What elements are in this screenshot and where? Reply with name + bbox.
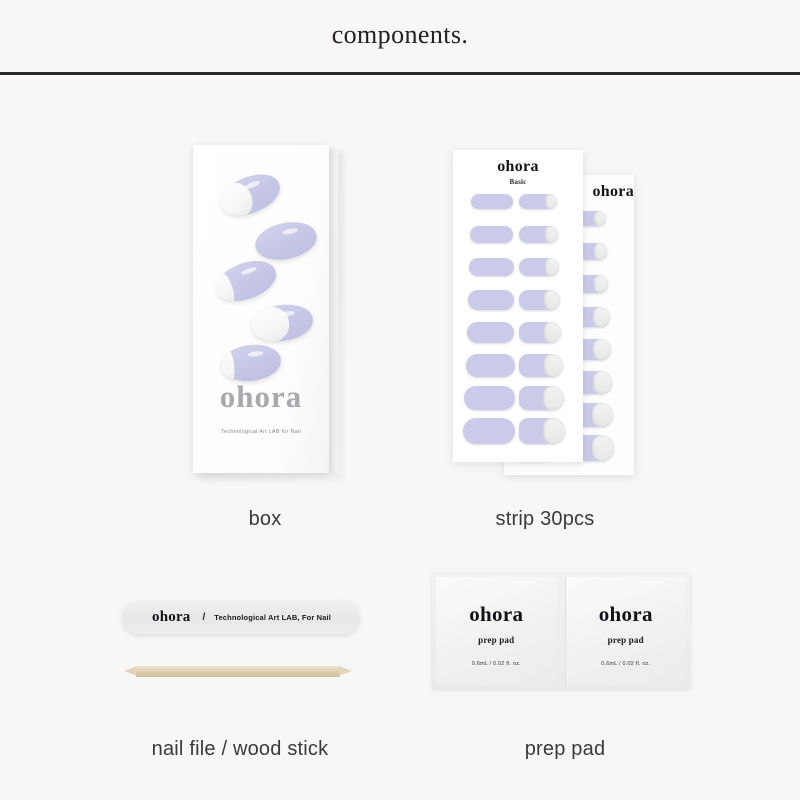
- prep-pad-sachet: ohora prep pad 0.6mL / 0.02 fl. oz.: [436, 577, 557, 685]
- nail-white-tip: [593, 307, 609, 327]
- wood-stick: [124, 666, 352, 677]
- nail-white-tip: [544, 290, 560, 310]
- nail-sticker: [519, 194, 557, 209]
- strip-sheet-logo: ohora: [453, 158, 583, 176]
- nail-sticker: [469, 258, 514, 276]
- nail-white-tip: [249, 304, 292, 345]
- nail-white-tip: [543, 386, 563, 410]
- caption-prep-pad: prep pad: [430, 738, 700, 761]
- wood-stick-right-tip: [339, 666, 352, 676]
- nail-sticker: [466, 354, 515, 377]
- product-box: ohora Technological Art LAB for Nail: [193, 145, 338, 475]
- box-nail-swatch: [252, 217, 320, 265]
- nail-white-tip: [545, 194, 557, 209]
- nail-file-separator: /: [203, 612, 206, 623]
- box-nail-swatch: [211, 253, 282, 308]
- nail-white-tip: [545, 258, 560, 276]
- nail-file-logo: ohora: [152, 609, 191, 626]
- nail-sticker: [470, 226, 513, 243]
- caption-strip: strip 30pcs: [430, 508, 660, 531]
- nail-white-tip: [594, 275, 609, 293]
- wood-stick-body: [136, 666, 340, 677]
- prep-pad-name: prep pad: [478, 635, 514, 645]
- prep-pad-pack: ohora prep pad 0.6mL / 0.02 fl. oz. ohor…: [432, 573, 690, 689]
- nail-sticker: [464, 386, 514, 410]
- nail-white-tip: [592, 435, 615, 461]
- components-page: components. ohora Technological Art LAB …: [0, 0, 800, 800]
- nail-sticker: [471, 194, 513, 209]
- nail-sticker: [519, 290, 560, 310]
- nail-white-tip: [544, 322, 561, 343]
- box-nail-swatch: [215, 167, 286, 224]
- nail-file: ohora / Technological Art LAB, For Nail: [122, 600, 360, 634]
- prep-pad-name: prep pad: [608, 635, 644, 645]
- caption-nail-file: nail file / wood stick: [80, 738, 400, 761]
- prep-pad-volume: 0.6mL / 0.02 fl. oz.: [601, 661, 650, 667]
- strip-sheet-front: ohora Basic: [453, 150, 583, 462]
- prep-pad-sachet: ohora prep pad 0.6mL / 0.02 fl. oz.: [565, 577, 687, 685]
- prep-pad-logo: ohora: [599, 602, 653, 627]
- nail-sticker: [463, 418, 515, 444]
- nail-sticker: [519, 322, 561, 343]
- box-nail-swatch: [249, 301, 315, 345]
- box-brand-logo: ohora: [193, 379, 329, 415]
- nail-white-tip: [211, 269, 238, 308]
- box-front-face: ohora Technological Art LAB for Nail: [193, 145, 329, 473]
- nail-white-tip: [545, 226, 558, 243]
- nail-sticker: [467, 322, 515, 343]
- nail-sticker: [519, 354, 563, 377]
- box-side-panel: [329, 149, 338, 473]
- nail-sticker: [519, 418, 565, 444]
- nail-sticker: [519, 258, 559, 276]
- strip-sheet-subtitle: Basic: [453, 178, 583, 186]
- nail-highlight: [240, 266, 257, 276]
- nail-white-tip: [543, 418, 565, 444]
- prep-pad-logo: ohora: [469, 602, 523, 627]
- nail-file-tagline: Technological Art LAB, For Nail: [214, 613, 331, 622]
- nail-sticker: [519, 226, 558, 243]
- nail-white-tip: [592, 403, 613, 427]
- nail-highlight: [281, 228, 298, 236]
- nail-white-tip: [593, 371, 612, 394]
- nail-highlight: [244, 180, 261, 190]
- caption-box: box: [170, 508, 360, 531]
- nail-white-tip: [594, 211, 606, 226]
- box-tagline: Technological Art LAB for Nail: [193, 429, 329, 435]
- nail-sticker: [519, 386, 564, 410]
- nail-white-tip: [593, 339, 611, 360]
- nail-white-tip: [594, 243, 607, 260]
- nail-sticker: [468, 290, 514, 310]
- nail-strip-sheets: ohora ohora Basic: [440, 150, 650, 480]
- header-divider: [0, 72, 800, 75]
- prep-pad-volume: 0.6mL / 0.02 fl. oz.: [472, 661, 521, 667]
- nail-highlight: [247, 351, 263, 358]
- nail-white-tip: [544, 354, 563, 377]
- page-title: components.: [0, 20, 800, 50]
